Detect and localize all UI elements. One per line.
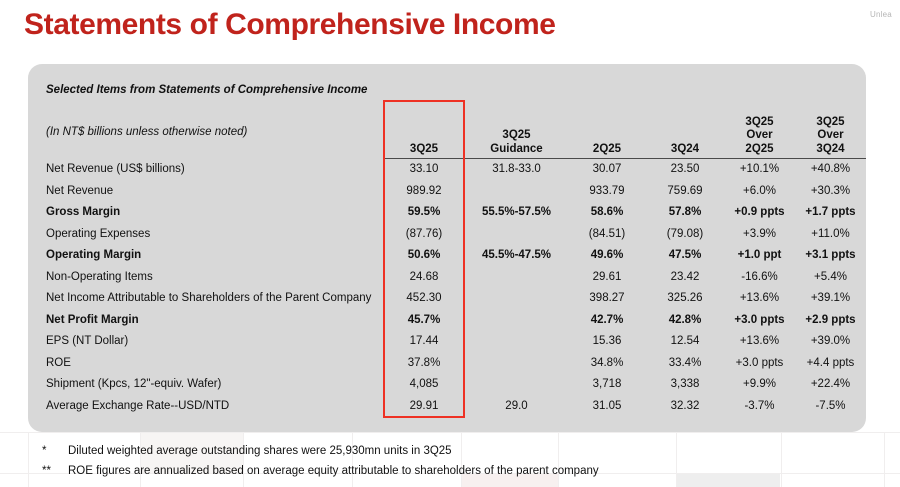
- row-label: Net Revenue (US$ billions): [28, 159, 383, 181]
- cell-3q25: 17.44: [383, 331, 465, 353]
- column-header-over-3q24: 3Q25 Over 3Q24: [795, 100, 866, 159]
- table-row: Operating Margin50.6%45.5%-47.5%49.6%47.…: [28, 245, 866, 267]
- column-header-guidance: 3Q25 Guidance: [465, 100, 568, 159]
- cell-guidance: [465, 331, 568, 353]
- cell-over-3q24: +39.1%: [795, 288, 866, 310]
- table-subtitle: Selected Items from Statements of Compre…: [46, 84, 367, 96]
- cell-2q25: 34.8%: [568, 353, 646, 375]
- cell-guidance: [465, 288, 568, 310]
- cell-2q25: 49.6%: [568, 245, 646, 267]
- cell-3q25: (87.76): [383, 224, 465, 246]
- cell-guidance: 29.0: [465, 396, 568, 418]
- cell-guidance: [465, 310, 568, 332]
- cell-over-3q24: +40.8%: [795, 159, 866, 181]
- cell-over-2q25: +6.0%: [724, 181, 795, 203]
- cell-guidance: [465, 224, 568, 246]
- financials-table: 3Q25 3Q25 Guidance 2Q25 3Q24 3Q25 Over: [28, 100, 866, 417]
- column-header-3q24-line2: 3Q24: [646, 143, 724, 157]
- column-header-over-3q24-line2: Over: [795, 129, 866, 143]
- cell-3q24: 32.32: [646, 396, 724, 418]
- column-header-over-2q25-line1: 3Q25: [724, 116, 795, 130]
- table-row: Gross Margin59.5%55.5%-57.5%58.6%57.8%+0…: [28, 202, 866, 224]
- column-header-guidance-line3: Guidance: [465, 143, 568, 157]
- cell-over-2q25: +13.6%: [724, 331, 795, 353]
- cell-3q24: 3,338: [646, 374, 724, 396]
- cell-3q24: 57.8%: [646, 202, 724, 224]
- cell-2q25: 31.05: [568, 396, 646, 418]
- cell-over-2q25: -3.7%: [724, 396, 795, 418]
- cell-2q25: 58.6%: [568, 202, 646, 224]
- cell-over-2q25: +1.0 ppt: [724, 245, 795, 267]
- footnote-text: ROE figures are annualized based on aver…: [68, 465, 599, 477]
- watermark-text: Unlea: [870, 10, 896, 19]
- column-header-over-2q25: 3Q25 Over 2Q25: [724, 100, 795, 159]
- table-row: Net Revenue989.92933.79759.69+6.0%+30.3%: [28, 181, 866, 203]
- table-header-row: 3Q25 3Q25 Guidance 2Q25 3Q24 3Q25 Over: [28, 100, 866, 159]
- cell-guidance: [465, 374, 568, 396]
- cell-3q25: 50.6%: [383, 245, 465, 267]
- row-label: Gross Margin: [28, 202, 383, 224]
- cell-3q24: 23.42: [646, 267, 724, 289]
- cell-over-3q24: +30.3%: [795, 181, 866, 203]
- cell-3q25: 24.68: [383, 267, 465, 289]
- footnote-marker: **: [42, 465, 68, 477]
- cell-3q25: 33.10: [383, 159, 465, 181]
- column-header-3q25-line2: 3Q25: [383, 143, 465, 157]
- cell-3q24: 33.4%: [646, 353, 724, 375]
- cell-3q25: 452.30: [383, 288, 465, 310]
- footnote: **ROE figures are annualized based on av…: [42, 465, 599, 485]
- cell-over-2q25: +9.9%: [724, 374, 795, 396]
- row-label: EPS (NT Dollar): [28, 331, 383, 353]
- cell-over-3q24: +11.0%: [795, 224, 866, 246]
- footnotes: *Diluted weighted average outstanding sh…: [42, 445, 599, 485]
- cell-over-2q25: -16.6%: [724, 267, 795, 289]
- cell-over-2q25: +3.0 ppts: [724, 353, 795, 375]
- cell-3q24: 47.5%: [646, 245, 724, 267]
- table-row: Average Exchange Rate--USD/NTD29.9129.03…: [28, 396, 866, 418]
- cell-3q24: 12.54: [646, 331, 724, 353]
- row-label: Shipment (Kpcs, 12"-equiv. Wafer): [28, 374, 383, 396]
- cell-2q25: (84.51): [568, 224, 646, 246]
- column-header-over-3q24-line1: 3Q25: [795, 116, 866, 130]
- cell-2q25: 933.79: [568, 181, 646, 203]
- cell-2q25: 30.07: [568, 159, 646, 181]
- cell-over-3q24: +3.1 ppts: [795, 245, 866, 267]
- cell-guidance: 45.5%-47.5%: [465, 245, 568, 267]
- column-header-over-3q24-line3: 3Q24: [795, 143, 866, 157]
- page-title: Statements of Comprehensive Income: [24, 8, 556, 42]
- cell-2q25: 29.61: [568, 267, 646, 289]
- table-row: EPS (NT Dollar)17.4415.3612.54+13.6%+39.…: [28, 331, 866, 353]
- cell-guidance: 31.8-33.0: [465, 159, 568, 181]
- cell-over-3q24: +1.7 ppts: [795, 202, 866, 224]
- footnote-marker: *: [42, 445, 68, 457]
- table-row: ROE37.8%34.8%33.4%+3.0 ppts+4.4 ppts: [28, 353, 866, 375]
- row-label: Net Revenue: [28, 181, 383, 203]
- cell-3q25: 59.5%: [383, 202, 465, 224]
- table-row: Net Profit Margin45.7%42.7%42.8%+3.0 ppt…: [28, 310, 866, 332]
- cell-guidance: [465, 353, 568, 375]
- cell-2q25: 15.36: [568, 331, 646, 353]
- cell-3q24: 23.50: [646, 159, 724, 181]
- cell-3q24: 325.26: [646, 288, 724, 310]
- column-header-over-2q25-line2: Over: [724, 129, 795, 143]
- row-label: Operating Margin: [28, 245, 383, 267]
- cell-3q25: 45.7%: [383, 310, 465, 332]
- cell-over-2q25: +3.0 ppts: [724, 310, 795, 332]
- table-row: Net Revenue (US$ billions)33.1031.8-33.0…: [28, 159, 866, 181]
- footnote: *Diluted weighted average outstanding sh…: [42, 445, 599, 465]
- cell-over-3q24: +4.4 ppts: [795, 353, 866, 375]
- row-label: Net Income Attributable to Shareholders …: [28, 288, 383, 310]
- cell-over-3q24: +2.9 ppts: [795, 310, 866, 332]
- cell-2q25: 3,718: [568, 374, 646, 396]
- column-header-label: [28, 100, 383, 159]
- cell-3q24: (79.08): [646, 224, 724, 246]
- cell-2q25: 398.27: [568, 288, 646, 310]
- cell-3q25: 989.92: [383, 181, 465, 203]
- column-header-guidance-line1: 3Q25: [465, 129, 568, 143]
- cell-over-2q25: +0.9 ppts: [724, 202, 795, 224]
- cell-over-2q25: +10.1%: [724, 159, 795, 181]
- cell-guidance: [465, 181, 568, 203]
- cell-3q25: 4,085: [383, 374, 465, 396]
- footnote-text: Diluted weighted average outstanding sha…: [68, 445, 452, 457]
- table-row: Non-Operating Items24.6829.6123.42-16.6%…: [28, 267, 866, 289]
- cell-over-3q24: +39.0%: [795, 331, 866, 353]
- column-header-2q25: 2Q25: [568, 100, 646, 159]
- cell-guidance: [465, 267, 568, 289]
- cell-2q25: 42.7%: [568, 310, 646, 332]
- row-label: Operating Expenses: [28, 224, 383, 246]
- table-row: Shipment (Kpcs, 12"-equiv. Wafer)4,0853,…: [28, 374, 866, 396]
- cell-3q24: 759.69: [646, 181, 724, 203]
- row-label: Net Profit Margin: [28, 310, 383, 332]
- row-label: Non-Operating Items: [28, 267, 383, 289]
- cell-3q25: 29.91: [383, 396, 465, 418]
- column-header-over-2q25-line3: 2Q25: [724, 143, 795, 157]
- column-header-3q24: 3Q24: [646, 100, 724, 159]
- cell-over-3q24: +22.4%: [795, 374, 866, 396]
- cell-guidance: 55.5%-57.5%: [465, 202, 568, 224]
- cell-over-3q24: -7.5%: [795, 396, 866, 418]
- cell-over-2q25: +13.6%: [724, 288, 795, 310]
- cell-3q25: 37.8%: [383, 353, 465, 375]
- table-row: Net Income Attributable to Shareholders …: [28, 288, 866, 310]
- row-label: ROE: [28, 353, 383, 375]
- cell-3q24: 42.8%: [646, 310, 724, 332]
- cell-over-3q24: +5.4%: [795, 267, 866, 289]
- cell-over-2q25: +3.9%: [724, 224, 795, 246]
- table-row: Operating Expenses(87.76)(84.51)(79.08)+…: [28, 224, 866, 246]
- row-label: Average Exchange Rate--USD/NTD: [28, 396, 383, 418]
- column-header-3q25: 3Q25: [383, 100, 465, 159]
- column-header-2q25-line2: 2Q25: [568, 143, 646, 157]
